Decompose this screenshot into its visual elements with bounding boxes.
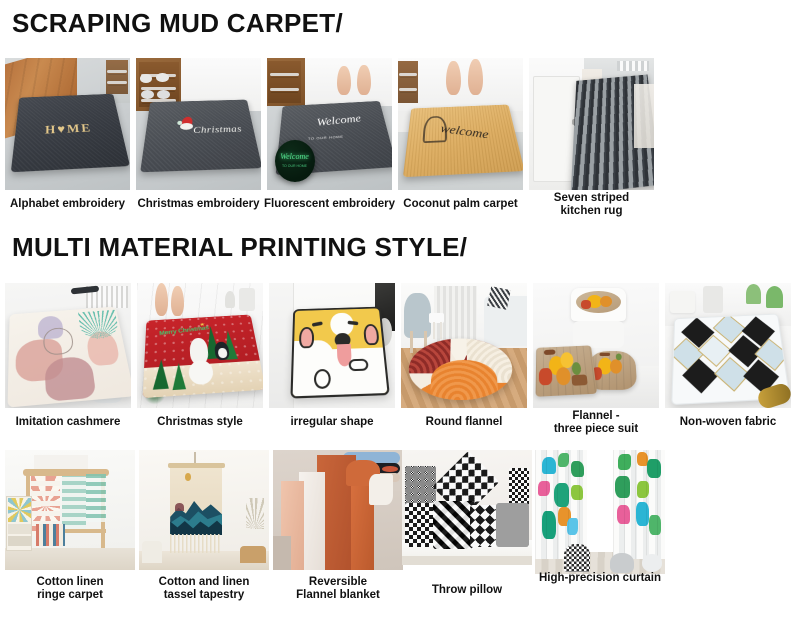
product-tile-round-flannel[interactable] <box>401 283 527 408</box>
product-label-cotton-linen-ringe-carpet: Cotton linen ringe carpet <box>5 576 135 602</box>
section-title-scraping-mud-carpet: SCRAPING MUD CARPET/ <box>12 8 343 39</box>
product-label-throw-pillow: Throw pillow <box>402 584 532 597</box>
product-label-round-flannel: Round flannel <box>397 416 531 429</box>
product-photo-round-flannel <box>401 283 527 408</box>
catalog-page: SCRAPING MUD CARPET/ H♥ME Alphabet embro… <box>0 0 800 623</box>
product-tile-alphabet-embroidery[interactable]: H♥ME <box>5 58 130 190</box>
product-label-irregular-shape: irregular shape <box>265 416 399 429</box>
product-tile-imitation-cashmere[interactable] <box>5 283 131 408</box>
product-label-reversible-flannel-blanket: Reversible Flannel blanket <box>273 576 403 602</box>
product-tile-reversible-flannel-blanket[interactable] <box>273 450 403 570</box>
product-label-cotton-and-linen-tassel-tapestry: Cotton and linen tassel tapestry <box>139 576 269 602</box>
product-photo-christmas-embroidery: Christmas <box>136 58 261 190</box>
product-photo-throw-pillow <box>402 450 532 565</box>
product-photo-high-precision-curtain <box>535 450 665 574</box>
product-tile-irregular-shape[interactable] <box>269 283 395 408</box>
product-photo-seven-striped-kitchen-rug <box>529 58 654 190</box>
product-tile-flannel-three-piece-suit[interactable] <box>533 283 659 408</box>
product-tile-fluorescent-embroidery[interactable]: Welcome TO OUR HOME Welcome TO OUR HOME <box>267 58 392 190</box>
product-tile-high-precision-curtain[interactable] <box>535 450 665 574</box>
product-tile-cotton-linen-ringe-carpet[interactable] <box>5 450 135 570</box>
product-photo-imitation-cashmere <box>5 283 131 408</box>
product-photo-flannel-three-piece-suit <box>533 283 659 408</box>
product-photo-cotton-linen-ringe-carpet <box>5 450 135 570</box>
product-photo-reversible-flannel-blanket <box>273 450 403 570</box>
product-tile-coconut-palm-carpet[interactable]: welcome <box>398 58 523 190</box>
glow-in-dark-sample: Welcome TO OUR HOME <box>275 140 315 182</box>
section-title-multi-material-printing-style: MULTI MATERIAL PRINTING STYLE/ <box>12 232 467 263</box>
product-label-seven-striped-kitchen-rug: Seven striped kitchen rug <box>529 192 654 218</box>
product-tile-cotton-and-linen-tassel-tapestry[interactable] <box>139 450 269 570</box>
product-photo-cotton-and-linen-tassel-tapestry <box>139 450 269 570</box>
product-label-non-woven-fabric: Non-woven fabric <box>661 416 795 429</box>
product-label-christmas-style: Christmas style <box>133 416 267 429</box>
product-photo-christmas-style: Merry Christmas <box>137 283 263 408</box>
product-label-coconut-palm-carpet: Coconut palm carpet <box>396 198 525 211</box>
product-tile-christmas-embroidery[interactable]: Christmas <box>136 58 261 190</box>
product-label-fluorescent-embroidery: Fluorescent embroidery <box>263 198 396 211</box>
product-photo-alphabet-embroidery: H♥ME <box>5 58 130 190</box>
mat-motif-text: Christmas <box>193 124 242 136</box>
product-tile-christmas-style[interactable]: Merry Christmas <box>137 283 263 408</box>
mat-motif-text: Welcome <box>315 112 361 129</box>
product-label-flannel-three-piece-suit: Flannel - three piece suit <box>529 410 663 436</box>
mat-motif-text: H♥ME <box>15 120 123 139</box>
product-photo-irregular-shape <box>269 283 395 408</box>
product-photo-fluorescent-embroidery: Welcome TO OUR HOME Welcome TO OUR HOME <box>267 58 392 190</box>
product-tile-throw-pillow[interactable] <box>402 450 532 565</box>
product-label-christmas-embroidery: Christmas embroidery <box>132 198 265 211</box>
product-tile-seven-striped-kitchen-rug[interactable] <box>529 58 654 190</box>
product-label-high-precision-curtain: High-precision curtain <box>520 572 680 585</box>
product-tile-non-woven-fabric[interactable] <box>665 283 791 408</box>
product-label-imitation-cashmere: Imitation cashmere <box>1 416 135 429</box>
product-photo-non-woven-fabric <box>665 283 791 408</box>
product-photo-coconut-palm-carpet: welcome <box>398 58 523 190</box>
product-label-alphabet-embroidery: Alphabet embroidery <box>1 198 134 211</box>
